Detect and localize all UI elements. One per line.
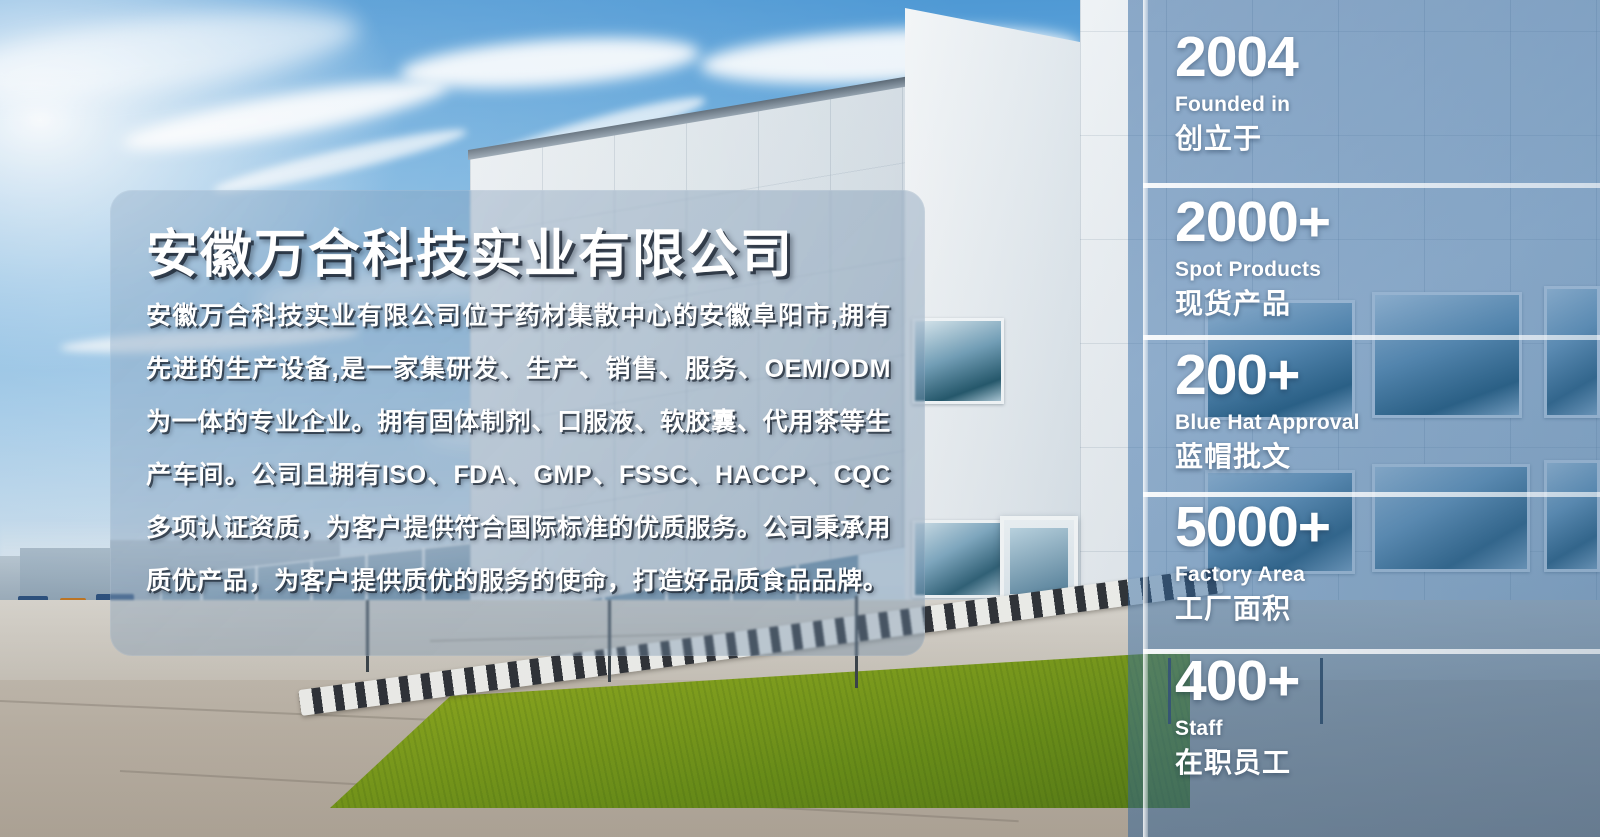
stat-item-founded: 2004 Founded in 创立于 <box>1128 28 1600 156</box>
stat-number: 400+ <box>1175 652 1600 712</box>
stat-item-spot-products: 2000+ Spot Products 现货产品 <box>1128 193 1600 321</box>
stat-divider <box>1143 335 1600 340</box>
stat-number: 2000+ <box>1175 193 1600 253</box>
stat-item-factory-area: 5000+ Factory Area 工厂面积 <box>1128 498 1600 626</box>
stat-label-en: Founded in <box>1175 92 1600 118</box>
stat-number: 200+ <box>1175 346 1600 406</box>
company-description-text: 安徽万合科技实业有限公司位于药材集散中心的安徽阜阳市,拥有先进的生产设备,是一家… <box>146 290 891 608</box>
stat-item-staff: 400+ Staff 在职员工 <box>1128 652 1600 780</box>
stat-label-cn: 蓝帽批文 <box>1175 439 1600 474</box>
stat-number: 2004 <box>1175 28 1600 88</box>
company-info-panel: 安徽万合科技实业有限公司 安徽万合科技实业有限公司位于药材集散中心的安徽阜阳市,… <box>110 190 925 656</box>
stat-item-blue-hat-approval: 200+ Blue Hat Approval 蓝帽批文 <box>1128 346 1600 474</box>
stat-label-cn: 创立于 <box>1175 121 1600 156</box>
company-name-title: 安徽万合科技实业有限公司 <box>146 212 794 287</box>
stat-label-en: Blue Hat Approval <box>1175 410 1600 436</box>
stat-divider <box>1143 183 1600 188</box>
building-window <box>912 318 1004 404</box>
stat-label-cn: 工厂面积 <box>1175 591 1600 626</box>
building-window <box>912 520 1004 598</box>
stat-number: 5000+ <box>1175 498 1600 558</box>
stat-label-cn: 现货产品 <box>1175 286 1600 321</box>
stat-label-en: Staff <box>1175 716 1600 742</box>
stat-label-en: Spot Products <box>1175 257 1600 283</box>
company-profile-banner: 安徽万合科技实业有限公司 安徽万合科技实业有限公司位于药材集散中心的安徽阜阳市,… <box>0 0 1600 837</box>
stat-label-en: Factory Area <box>1175 562 1600 588</box>
stat-label-cn: 在职员工 <box>1175 745 1600 780</box>
